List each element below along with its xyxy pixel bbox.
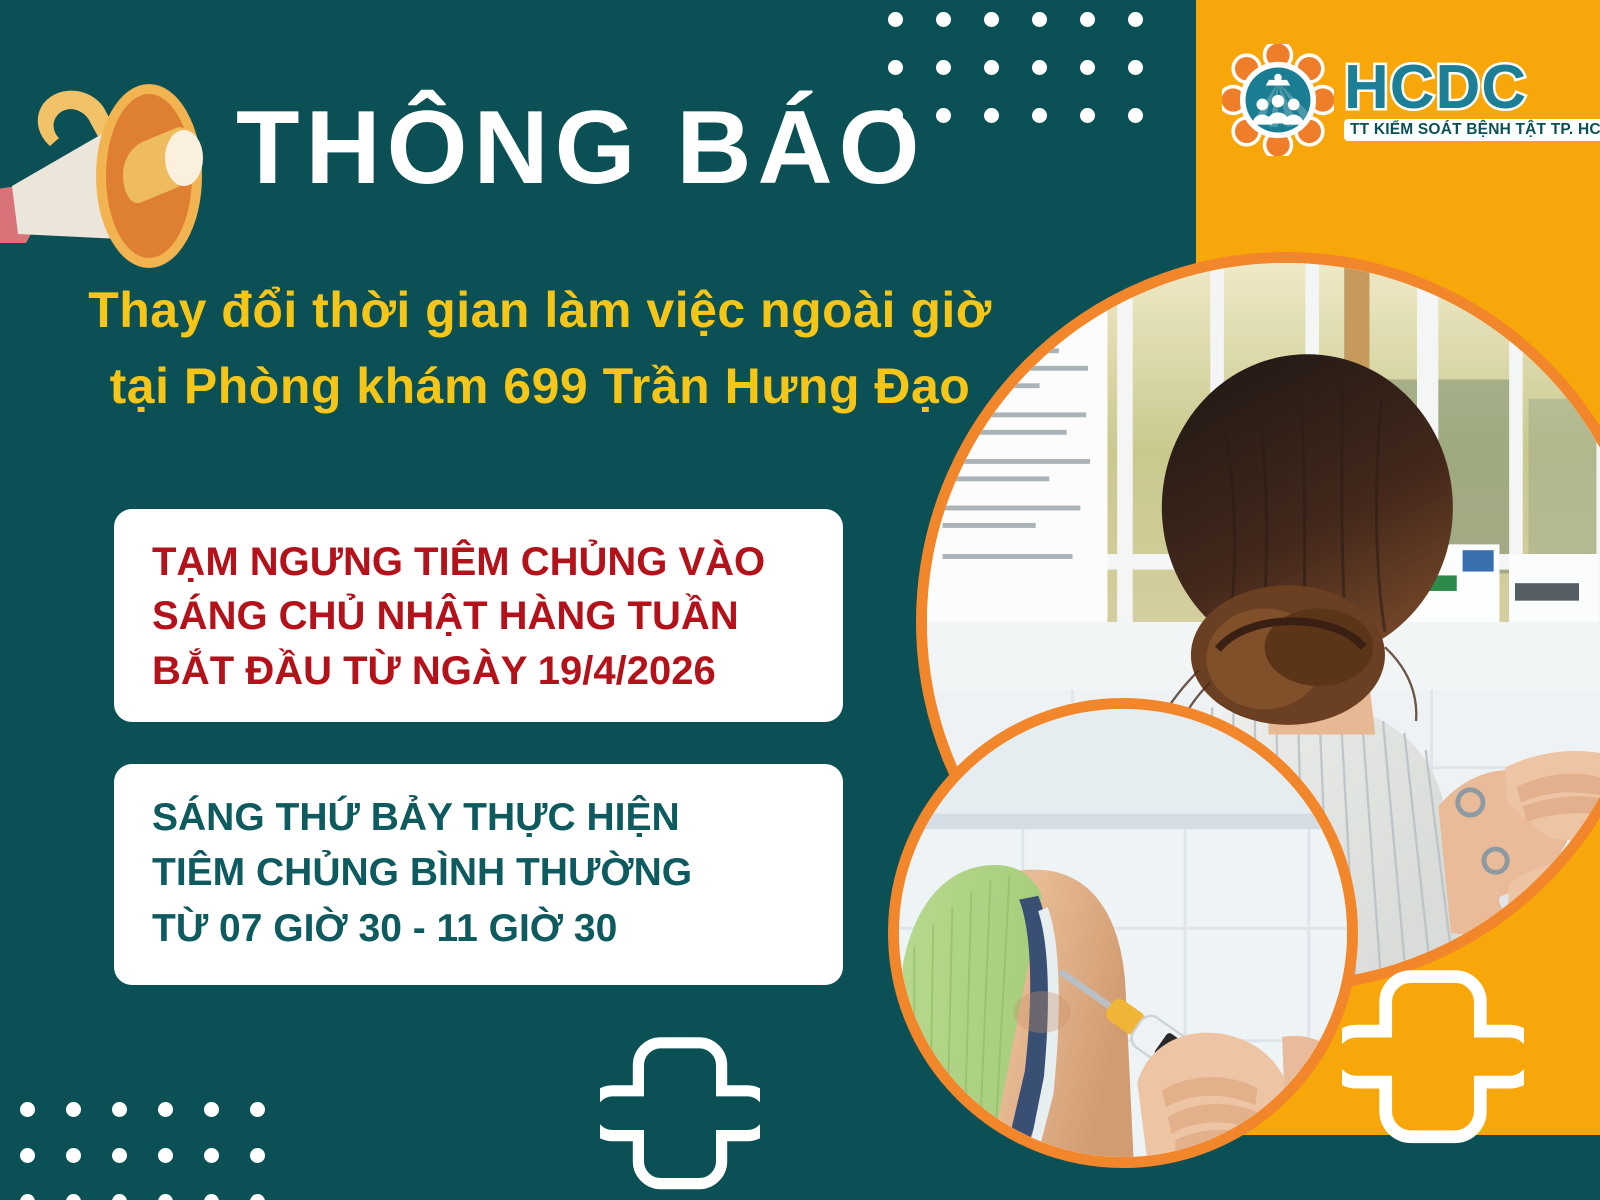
dot — [158, 1102, 173, 1117]
dot — [66, 1148, 81, 1163]
dot — [66, 1102, 81, 1117]
poster-canvas: THÔNG BÁO Thay đổi thời gian làm việc ng… — [0, 0, 1600, 1200]
dot — [250, 1148, 265, 1163]
subtitle-block: Thay đổi thời gian làm việc ngoài giờ tạ… — [60, 272, 1020, 424]
dot-grid-top-right — [888, 12, 1176, 156]
photo-vaccination-closeup — [888, 698, 1358, 1168]
dot — [1128, 108, 1143, 123]
dot — [936, 12, 951, 27]
dot — [984, 60, 999, 75]
notice-line-1: TẠM NGƯNG TIÊM CHỦNG VÀO — [152, 535, 805, 589]
megaphone-icon — [0, 38, 240, 268]
hcdc-wordmark: HCDC TT KIỂM SOÁT BỆNH TẬT TP. HCM — [1344, 59, 1600, 140]
dot — [1032, 108, 1047, 123]
dot — [1032, 12, 1047, 27]
dot — [984, 108, 999, 123]
hcdc-logo: HCDC TT KIỂM SOÁT BỆNH TẬT TP. HCM — [1222, 40, 1552, 160]
photo-vaccination-closeup-art — [899, 709, 1347, 1157]
dot — [1080, 108, 1095, 123]
dot — [158, 1148, 173, 1163]
notice-line-3: BẮT ĐẦU TỪ NGÀY 19/4/2026 — [152, 644, 805, 698]
dot — [204, 1102, 219, 1117]
dot — [66, 1194, 81, 1200]
notice-line-2: SÁNG CHỦ NHẬT HÀNG TUẦN — [152, 589, 805, 643]
dot — [1080, 12, 1095, 27]
dot — [250, 1194, 265, 1200]
dot — [158, 1194, 173, 1200]
dot — [20, 1148, 35, 1163]
dot-grid-bottom-left — [20, 1102, 296, 1200]
notice-card-suspension: TẠM NGƯNG TIÊM CHỦNG VÀO SÁNG CHỦ NHẬT H… — [114, 509, 843, 722]
subtitle-line-1: Thay đổi thời gian làm việc ngoài giờ — [60, 272, 1020, 348]
dot — [1128, 12, 1143, 27]
schedule-line-3: TỪ 07 GIỜ 30 - 11 GIỜ 30 — [152, 901, 805, 956]
schedule-line-2: TIÊM CHỦNG BÌNH THƯỜNG — [152, 845, 805, 900]
dot — [936, 108, 951, 123]
dot — [250, 1102, 265, 1117]
dot — [112, 1102, 127, 1117]
hcdc-subtitle: TT KIỂM SOÁT BỆNH TẬT TP. HCM — [1344, 119, 1600, 141]
plus-cross-icon — [1342, 962, 1524, 1144]
page-title: THÔNG BÁO — [236, 96, 926, 200]
schedule-line-1: SÁNG THỨ BẢY THỰC HIỆN — [152, 790, 805, 845]
dot — [112, 1148, 127, 1163]
hcdc-emblem-icon — [1222, 44, 1334, 156]
dot — [1080, 60, 1095, 75]
dot — [888, 60, 903, 75]
dot — [936, 60, 951, 75]
dot — [888, 12, 903, 27]
dot — [112, 1194, 127, 1200]
dot — [20, 1102, 35, 1117]
dot — [984, 12, 999, 27]
dot — [1128, 60, 1143, 75]
dot — [1032, 60, 1047, 75]
notice-card-saturday: SÁNG THỨ BẢY THỰC HIỆN TIÊM CHỦNG BÌNH T… — [114, 764, 843, 985]
bottom-teal-strip — [1196, 1135, 1600, 1200]
dot — [204, 1148, 219, 1163]
hcdc-name: HCDC — [1344, 59, 1527, 116]
plus-cross-icon — [600, 1030, 760, 1190]
dot — [204, 1194, 219, 1200]
dot — [20, 1194, 35, 1200]
subtitle-line-2: tại Phòng khám 699 Trần Hưng Đạo — [60, 348, 1020, 424]
